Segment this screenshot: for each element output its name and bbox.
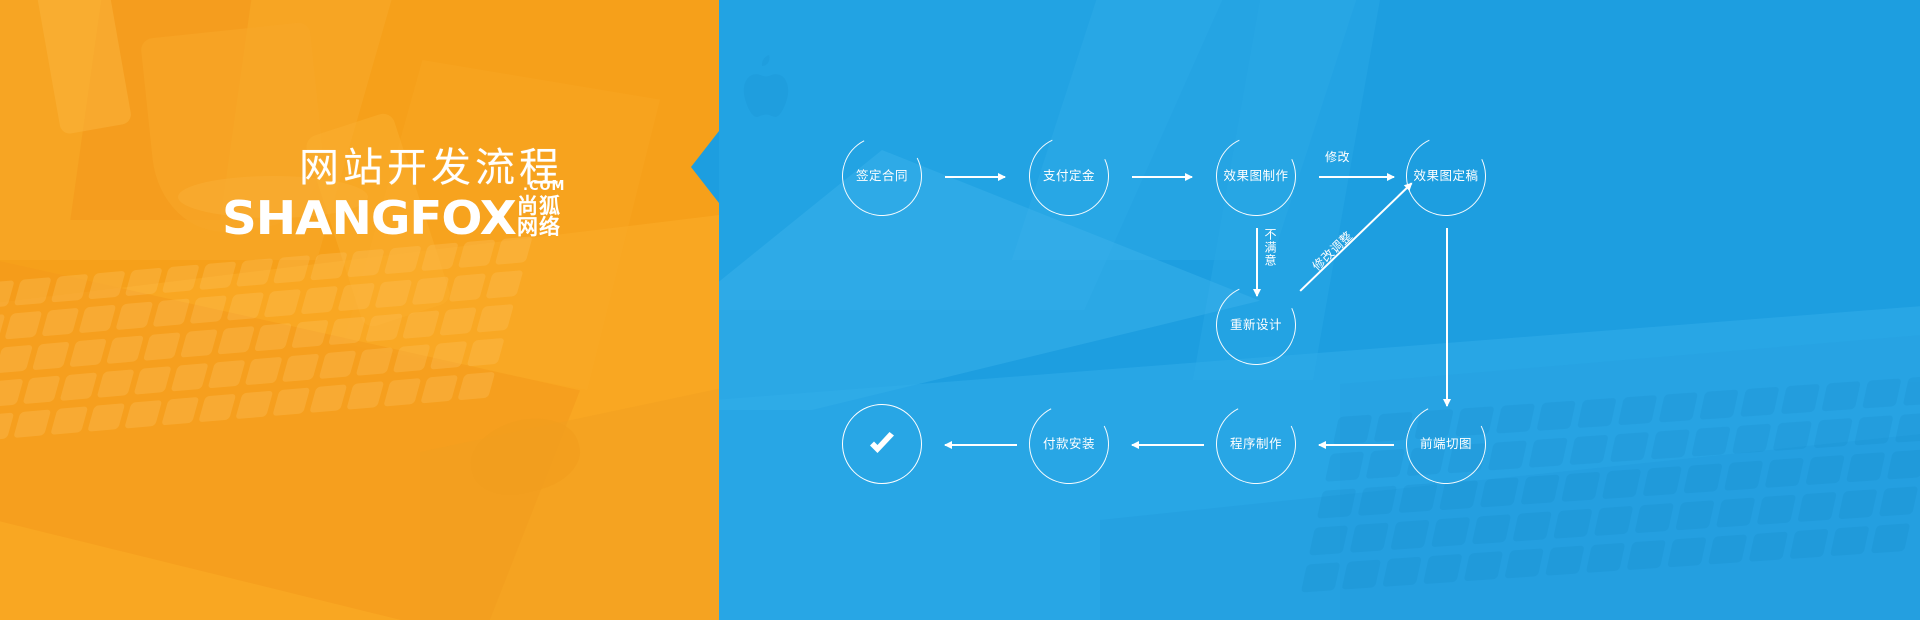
arrow-frontend-to-program (1319, 444, 1394, 446)
node-label: 付款安装 (1043, 437, 1095, 451)
node-label: 签定合同 (856, 169, 908, 183)
node-label: 支付定金 (1043, 169, 1095, 183)
node-label: 效果图制作 (1223, 169, 1288, 183)
node-sign-contract[interactable]: 签定合同 (842, 136, 922, 216)
node-label: 程序制作 (1230, 437, 1282, 451)
node-label: 重新设计 (1230, 318, 1282, 332)
node-mockup-make[interactable]: 效果图制作 (1216, 136, 1296, 216)
arrow-sign-to-pay (945, 176, 1005, 178)
node-label: 效果图定稿 (1413, 169, 1478, 183)
arrow-final-to-frontend (1446, 228, 1448, 406)
node-pay-deposit[interactable]: 支付定金 (1029, 136, 1109, 216)
arrow-program-to-payinstall (1132, 444, 1204, 446)
node-complete[interactable] (842, 404, 922, 484)
node-label: 前端切图 (1420, 437, 1472, 451)
arrow-payinstall-to-complete (945, 444, 1017, 446)
node-program-build[interactable]: 程序制作 (1216, 404, 1296, 484)
workflow-diagram: 签定合同 支付定金 效果图制作 修改 效果图定稿 不满意 重新设计 修改调整 (0, 0, 1920, 620)
arrow-redesign-to-final (1299, 183, 1412, 292)
arrow-pay-to-mockup (1132, 176, 1192, 178)
edge-label-revise: 修改 (1325, 148, 1350, 165)
edge-label-unsatisfied: 不满意 (1262, 228, 1279, 267)
banner-stage: 网站开发流程 SHANGFOX .COM 尚狐 网络 签定合同 支付定金 (0, 0, 1920, 620)
edge-label-revise-adjust: 修改调整 (1308, 227, 1356, 274)
node-frontend-cut[interactable]: 前端切图 (1406, 404, 1486, 484)
node-mockup-final[interactable]: 效果图定稿 (1406, 136, 1486, 216)
check-icon (865, 427, 899, 461)
node-pay-install[interactable]: 付款安装 (1029, 404, 1109, 484)
node-redesign[interactable]: 重新设计 (1216, 285, 1296, 365)
arrow-mockup-to-final (1319, 176, 1394, 178)
